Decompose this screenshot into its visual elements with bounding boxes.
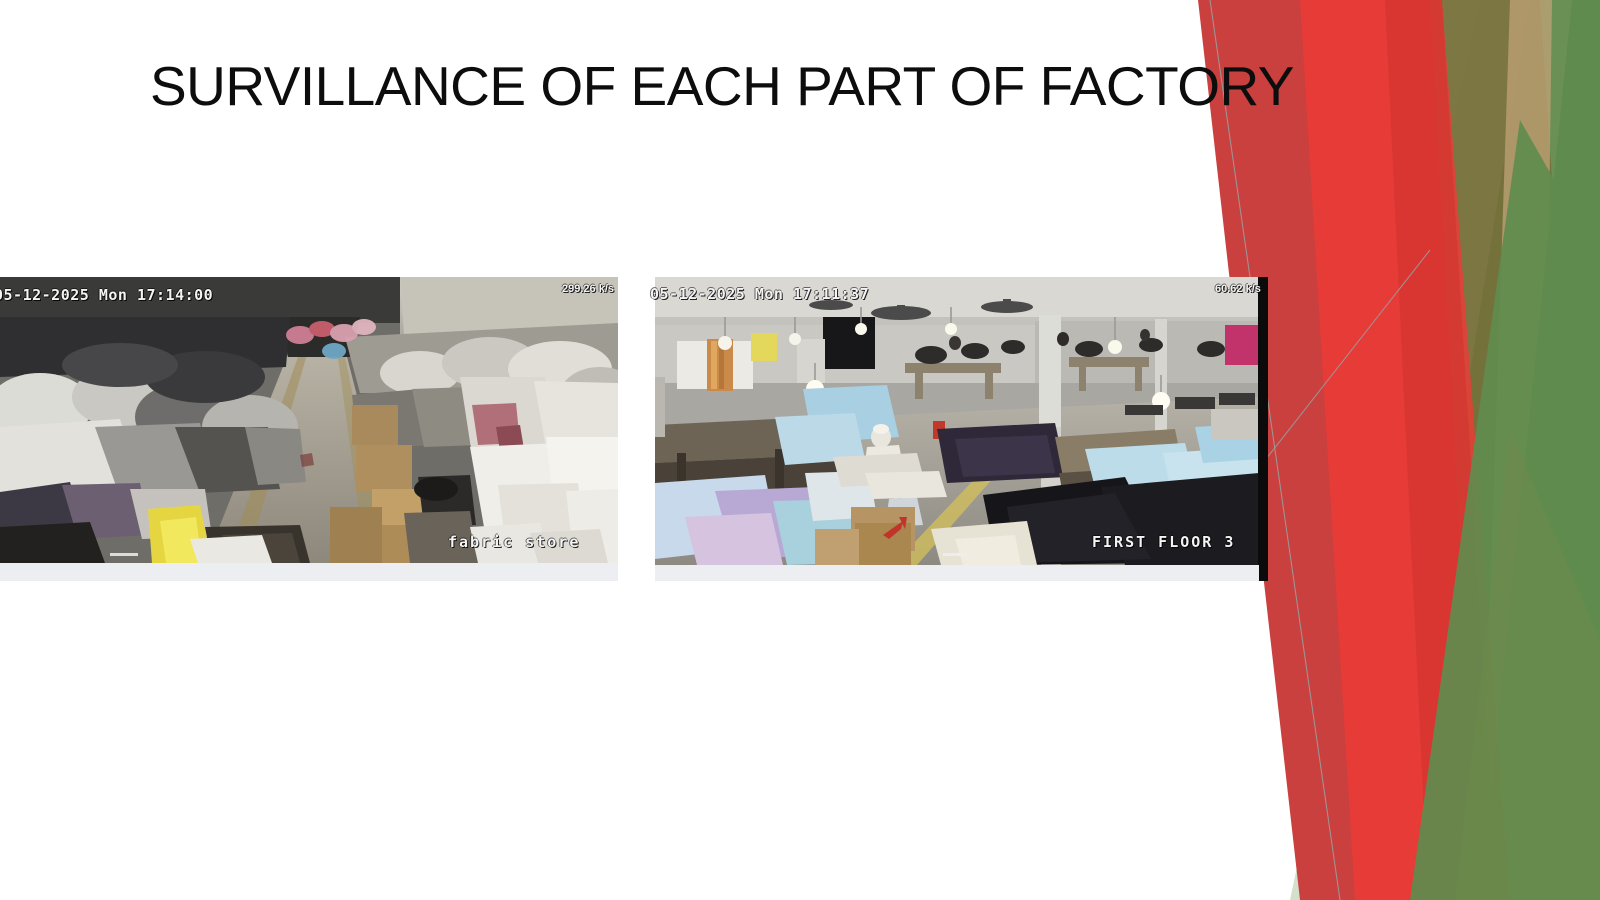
camera-feed-left[interactable]: [0, 277, 618, 563]
camera-right-bitrate: 60.62 k/s: [1215, 283, 1261, 295]
camera-left-label: fabric store: [448, 533, 580, 551]
camera-right-timestamp: 05-12-2025 Mon 17:11:37: [650, 285, 869, 303]
camera-right-frame-border: [1258, 277, 1268, 581]
camera-right-label: FIRST FLOOR 3: [1092, 533, 1235, 551]
camera-right-bottom-strip: [655, 565, 1259, 581]
camera-right-scene: [655, 277, 1259, 565]
camera-left-bottom-strip: [0, 563, 618, 581]
camera-feed-right[interactable]: [655, 277, 1259, 565]
camera-left-scene: [0, 277, 618, 563]
slide-canvas: SURVILLANCE OF EACH PART OF FACTORY: [0, 0, 1600, 900]
camera-left-bitrate: 299.26 k/s: [562, 283, 614, 295]
camera-left-timestamp: 05-12-2025 Mon 17:14:00: [0, 286, 213, 304]
slide-title: SURVILLANCE OF EACH PART OF FACTORY: [150, 57, 1170, 116]
